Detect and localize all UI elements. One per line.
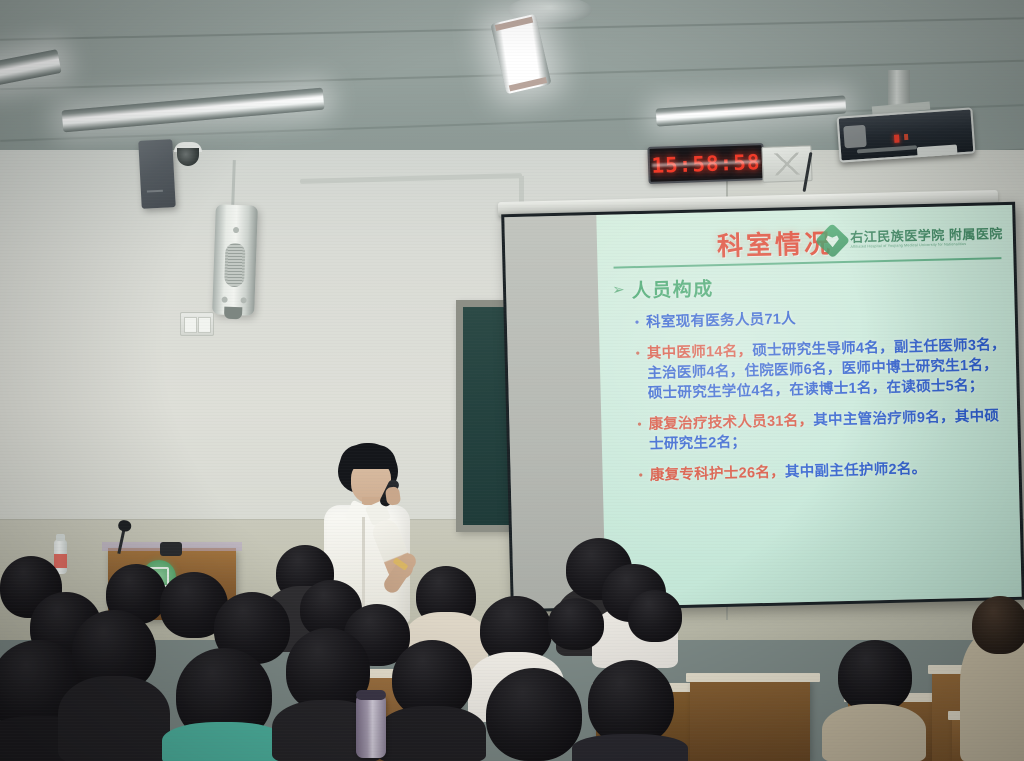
desk-surface: [686, 673, 820, 682]
bottle-cap: [56, 534, 65, 541]
slide-bullet: • 其中医师14名，硕士研究生导师4名，副主任医师3名，主治医师4名，住院医师6…: [635, 335, 1008, 404]
blouse-placket: [362, 517, 365, 617]
bullet-segment: 其中副主任护师2名。: [785, 461, 927, 480]
speaker-base: [224, 307, 242, 320]
bullet-marker: •: [638, 466, 643, 486]
lecture-hall-photo: 15:58:58 科室情况 右江民族医学院 附属医院 Affiliated Ho…: [0, 0, 1024, 761]
logo-diamond-icon: [815, 223, 850, 258]
audience-member: [378, 706, 486, 761]
slide-heading: ➢ 人员构成: [612, 267, 1007, 304]
panel-grill-icon: [769, 152, 806, 175]
audience-head: [838, 640, 912, 712]
presenter-fringe: [340, 445, 396, 469]
audience-member: [162, 722, 286, 761]
projected-slide: 科室情况 右江民族医学院 附属医院 Affiliated Hospital of…: [596, 205, 1021, 607]
light-switch[interactable]: [198, 317, 211, 333]
audience-member: [822, 704, 926, 761]
audience-member: [572, 734, 688, 761]
logo-text: 右江民族医学院 附属医院 Affiliated Hospital of Youj…: [850, 227, 1003, 249]
hospital-logo: 右江民族医学院 附属医院 Affiliated Hospital of Youj…: [820, 224, 1003, 253]
travel-tumbler: [356, 694, 386, 758]
dome-camera-icon: [174, 142, 202, 168]
bullet-text: 康复专科护士26名，其中副主任护师2名。: [650, 459, 927, 486]
slide-heading-text: 人员构成: [631, 274, 714, 303]
projector: [837, 107, 976, 162]
slide-bullet: • 科室现有医务人员71人: [635, 304, 1007, 333]
podium-object: [160, 542, 182, 556]
projector-status-led: [904, 134, 908, 140]
arrow-right-icon: ➢: [612, 282, 625, 297]
logo-heart-icon: [826, 234, 839, 247]
bottle-label: [54, 554, 67, 568]
tumbler-lid: [356, 690, 386, 700]
bullet-marker: •: [635, 344, 641, 404]
logo-name-cn: 右江民族医学院 附属医院: [850, 227, 1003, 244]
bullet-segment: 其中医师14名，: [647, 343, 753, 362]
audience-member: [58, 676, 170, 761]
bullet-segment: 科室现有医务人员71人: [646, 311, 796, 331]
bullet-segment: 康复专科护士26名，: [650, 464, 785, 483]
audience-head: [588, 660, 674, 745]
projector-lens-icon: [843, 125, 866, 148]
bullet-text: 康复治疗技术人员31名，其中主管治疗师9名，其中硕士研究生2名；: [648, 406, 1010, 455]
speaker-grill: [147, 190, 163, 193]
presenter-hand: [385, 486, 401, 506]
wall-switch-panel[interactable]: [180, 312, 214, 336]
slide-body: ➢ 人员构成 • 科室现有医务人员71人 • 其中医师14名，硕士研究生导师4名…: [612, 267, 1011, 498]
audience-head: [628, 590, 682, 642]
lecture-desk: [690, 680, 810, 761]
slide-bullet: • 康复治疗技术人员31名，其中主管治疗师9名，其中硕士研究生2名；: [637, 406, 1010, 455]
camera-dome: [177, 148, 199, 166]
audience-head: [548, 598, 604, 650]
bullet-marker: •: [637, 415, 642, 455]
audience-head: [486, 668, 582, 761]
audience-head: [972, 596, 1024, 654]
projector-power-led: [894, 134, 900, 142]
bullet-text: 其中医师14名，硕士研究生导师4名，副主任医师3名，主治医师4名，住院医师6名，…: [647, 335, 1009, 404]
slide-bullet: • 康复专科护士26名，其中副主任护师2名。: [638, 457, 1010, 486]
bullet-text: 科室现有医务人员71人: [646, 309, 796, 333]
bullet-segment: 康复治疗技术人员31名，: [648, 413, 813, 433]
speaker-mesh: [224, 243, 246, 288]
hanging-speaker: [212, 204, 258, 315]
light-switch[interactable]: [184, 317, 197, 333]
wall-speaker: [138, 139, 176, 209]
bullet-marker: •: [635, 313, 640, 333]
